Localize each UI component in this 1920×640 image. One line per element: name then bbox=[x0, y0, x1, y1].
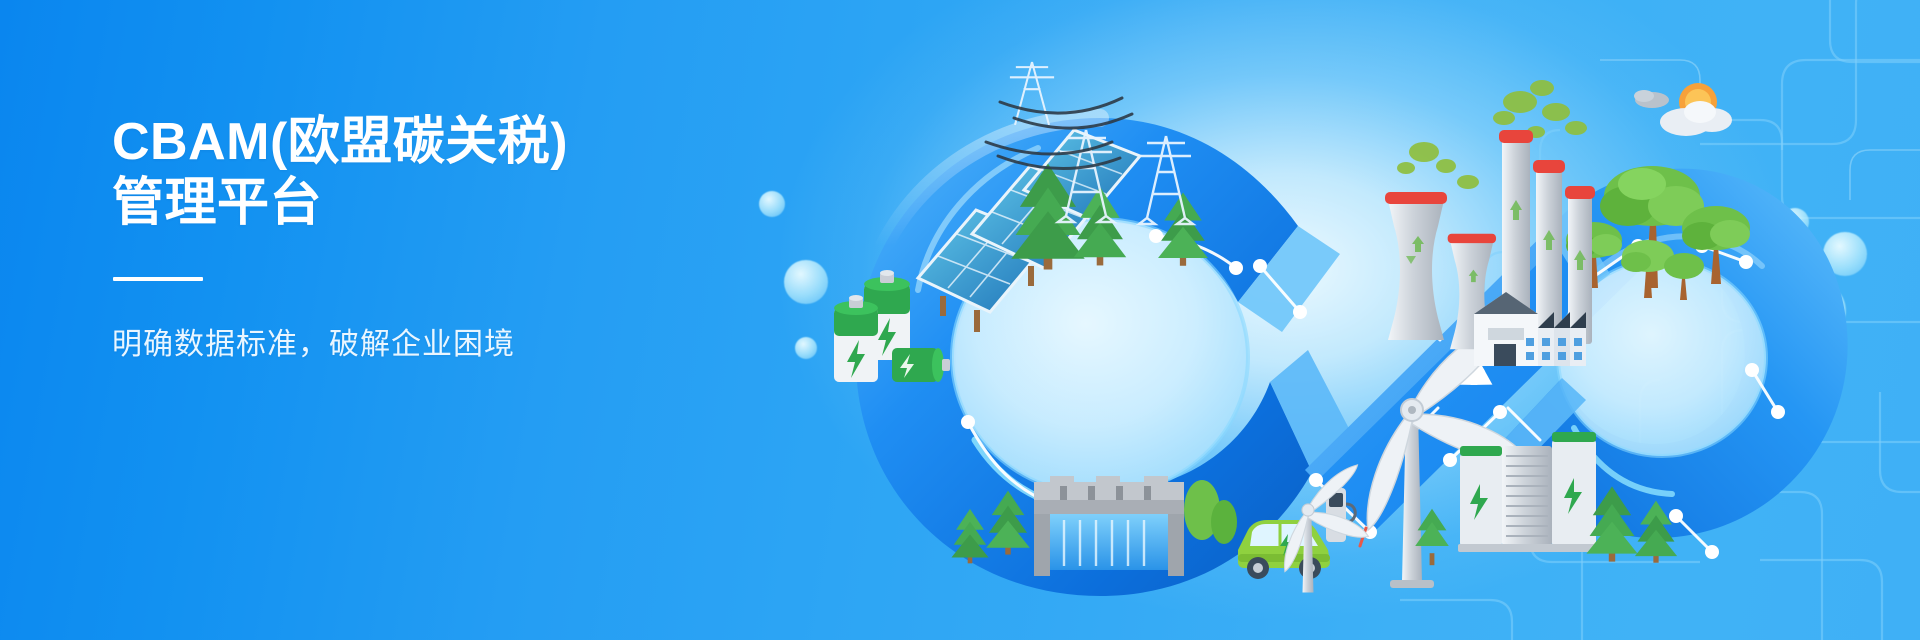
page-subtitle: 明确数据标准，破解企业困境 bbox=[112, 325, 752, 364]
eco-carbon-cycle-illustration bbox=[800, 40, 1860, 600]
cbam-hero-banner: CBAM(欧盟碳关税) 管理平台 明确数据标准，破解企业困境 bbox=[0, 0, 1920, 640]
bubble-decor bbox=[759, 191, 785, 217]
sun-cloud bbox=[1634, 83, 1732, 136]
hero-copy: CBAM(欧盟碳关税) 管理平台 明确数据标准，破解企业困境 bbox=[112, 112, 752, 364]
page-title: CBAM(欧盟碳关税) 管理平台 bbox=[112, 112, 752, 235]
cooling-tower bbox=[1385, 192, 1447, 340]
title-divider bbox=[113, 277, 203, 281]
